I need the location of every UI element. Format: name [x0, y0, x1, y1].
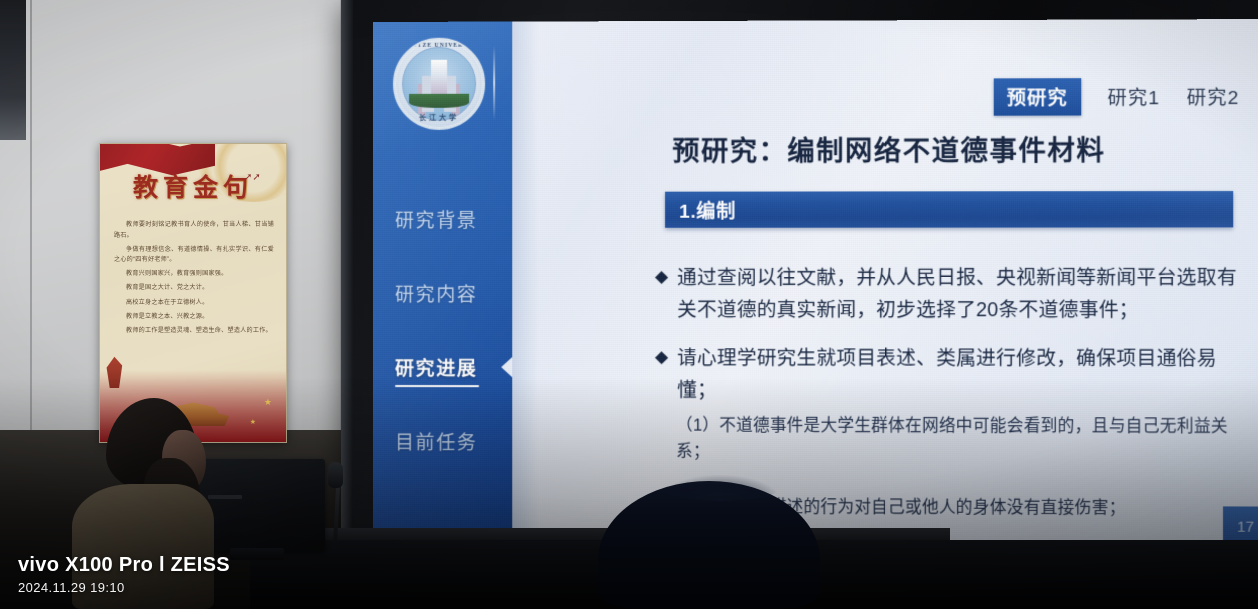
section-header-label: 1.编制 — [679, 196, 736, 223]
camera-watermark: vivo X100 Pro l ZEISS 2024.11.29 19:10 — [18, 554, 230, 595]
bullet-item: ◆ 通过查阅以往文献，并从人民日报、央视新闻等新闻平台选取有关不道德的真实新闻，… — [655, 262, 1250, 327]
poster-body: 教师要时刻铭记教书育人的使命，甘当人梯、甘当铺路石。 争做有理想信念、有道德情操… — [114, 220, 274, 340]
poster-line: 教师的工作是塑造灵魂、塑造生命、塑造人的工作。 — [114, 326, 274, 337]
section-header-bar: 1.编制 — [665, 191, 1233, 228]
sub-item: （1）不道德事件是大学生群体在网络中可能会看到的，且与自己无利益关系； — [676, 413, 1254, 467]
seal-inner-ring — [402, 47, 476, 121]
silhouette-hair-wisp — [660, 475, 780, 501]
photo-scene: ➚➚ 教育金句 教师要时刻铭记教书育人的使命，甘当人梯、甘当铺路石。 争做有理想… — [0, 0, 1258, 609]
sidebar-item-research-content[interactable]: 研究内容 — [373, 256, 512, 330]
watermark-datetime: 2024.11.29 19:10 — [18, 580, 230, 595]
sidebar-item-label: 研究进展 — [395, 354, 478, 381]
poster-line: 高校立身之本在于立德树人。 — [114, 298, 274, 309]
poster-line: 争做有理想信念、有道德情操、有扎实学识、有仁爱之心的“四有好老师”。 — [114, 245, 274, 266]
sidebar-divider — [493, 46, 495, 120]
poster-title: 教育金句 — [100, 168, 286, 204]
sidebar-item-current-tasks[interactable]: 目前任务 — [373, 404, 512, 478]
sidebar-item-label: 研究内容 — [395, 279, 478, 306]
poster-star-icon: ★ — [250, 418, 256, 426]
university-logo: YANGTZE UNIVERSITY 长江大学 — [393, 38, 485, 130]
sidebar-item-research-progress[interactable]: 研究进展 — [373, 330, 512, 404]
slide-tabs: 预研究 研究1 研究2 — [994, 78, 1240, 116]
monitor-stand — [230, 548, 284, 560]
person-foreground-silhouette — [598, 481, 820, 609]
sidebar-item-label: 目前任务 — [395, 428, 478, 455]
slide-main: 预研究 研究1 研究2 预研究：编制网络不道德事件材料 1.编制 ◆ 通过查阅以… — [512, 19, 1258, 545]
wall-seam — [30, 0, 32, 470]
slide-sidebar: YANGTZE UNIVERSITY 长江大学 研究背景 研究内容 — [373, 22, 512, 543]
poster-line: 教师是立教之本、兴教之源。 — [114, 312, 274, 323]
slide: YANGTZE UNIVERSITY 长江大学 研究背景 研究内容 — [373, 19, 1258, 545]
monitor-badge — [208, 495, 242, 499]
poster-line: 教师要时刻铭记教书育人的使命，甘当人梯、甘当铺路石。 — [114, 220, 274, 241]
microphone-head — [328, 462, 343, 488]
desk-monitor — [196, 459, 325, 551]
slide-title: 预研究：编制网络不道德事件材料 — [512, 128, 1258, 169]
bullet-item: ◆ 请心理学研究生就项目表述、类属进行修改，确保项目通俗易懂； — [655, 342, 1250, 407]
seal-lawn — [409, 94, 470, 108]
poster-line: 教育是国之大计、党之大计。 — [114, 283, 274, 294]
poster-line: 教育兴则国家兴，教育强则国家强。 — [114, 269, 274, 280]
seal-outer-ring: YANGTZE UNIVERSITY 长江大学 — [393, 38, 485, 130]
sidebar-item-research-background[interactable]: 研究背景 — [373, 182, 512, 256]
tab-study-1[interactable]: 研究1 — [1108, 83, 1161, 110]
bullet-text: 通过查阅以往文献，并从人民日报、央视新闻等新闻平台选取有关不道德的真实新闻，初步… — [677, 262, 1249, 327]
bullet-list: ◆ 通过查阅以往文献，并从人民日报、央视新闻等新闻平台选取有关不道德的真实新闻，… — [655, 262, 1250, 424]
slide-left-shade — [512, 21, 538, 542]
presentation-screen: YANGTZE UNIVERSITY 长江大学 研究背景 研究内容 — [373, 19, 1258, 545]
sidebar-nav: 研究背景 研究内容 研究进展 目前任务 — [373, 182, 512, 479]
bullet-text: 请心理学研究生就项目表述、类属进行修改，确保项目通俗易懂； — [677, 342, 1249, 407]
wall-dark-corner — [0, 0, 26, 140]
poster-star-icon: ★ — [264, 397, 272, 408]
diamond-bullet-icon: ◆ — [655, 262, 668, 326]
watermark-brand: vivo X100 Pro l ZEISS — [18, 554, 230, 577]
seal-text-bottom: 长江大学 — [395, 113, 483, 123]
tab-study-2[interactable]: 研究2 — [1187, 83, 1240, 110]
tab-pre-research[interactable]: 预研究 — [994, 78, 1081, 116]
sidebar-item-label: 研究背景 — [395, 205, 478, 232]
diamond-bullet-icon: ◆ — [655, 342, 668, 406]
